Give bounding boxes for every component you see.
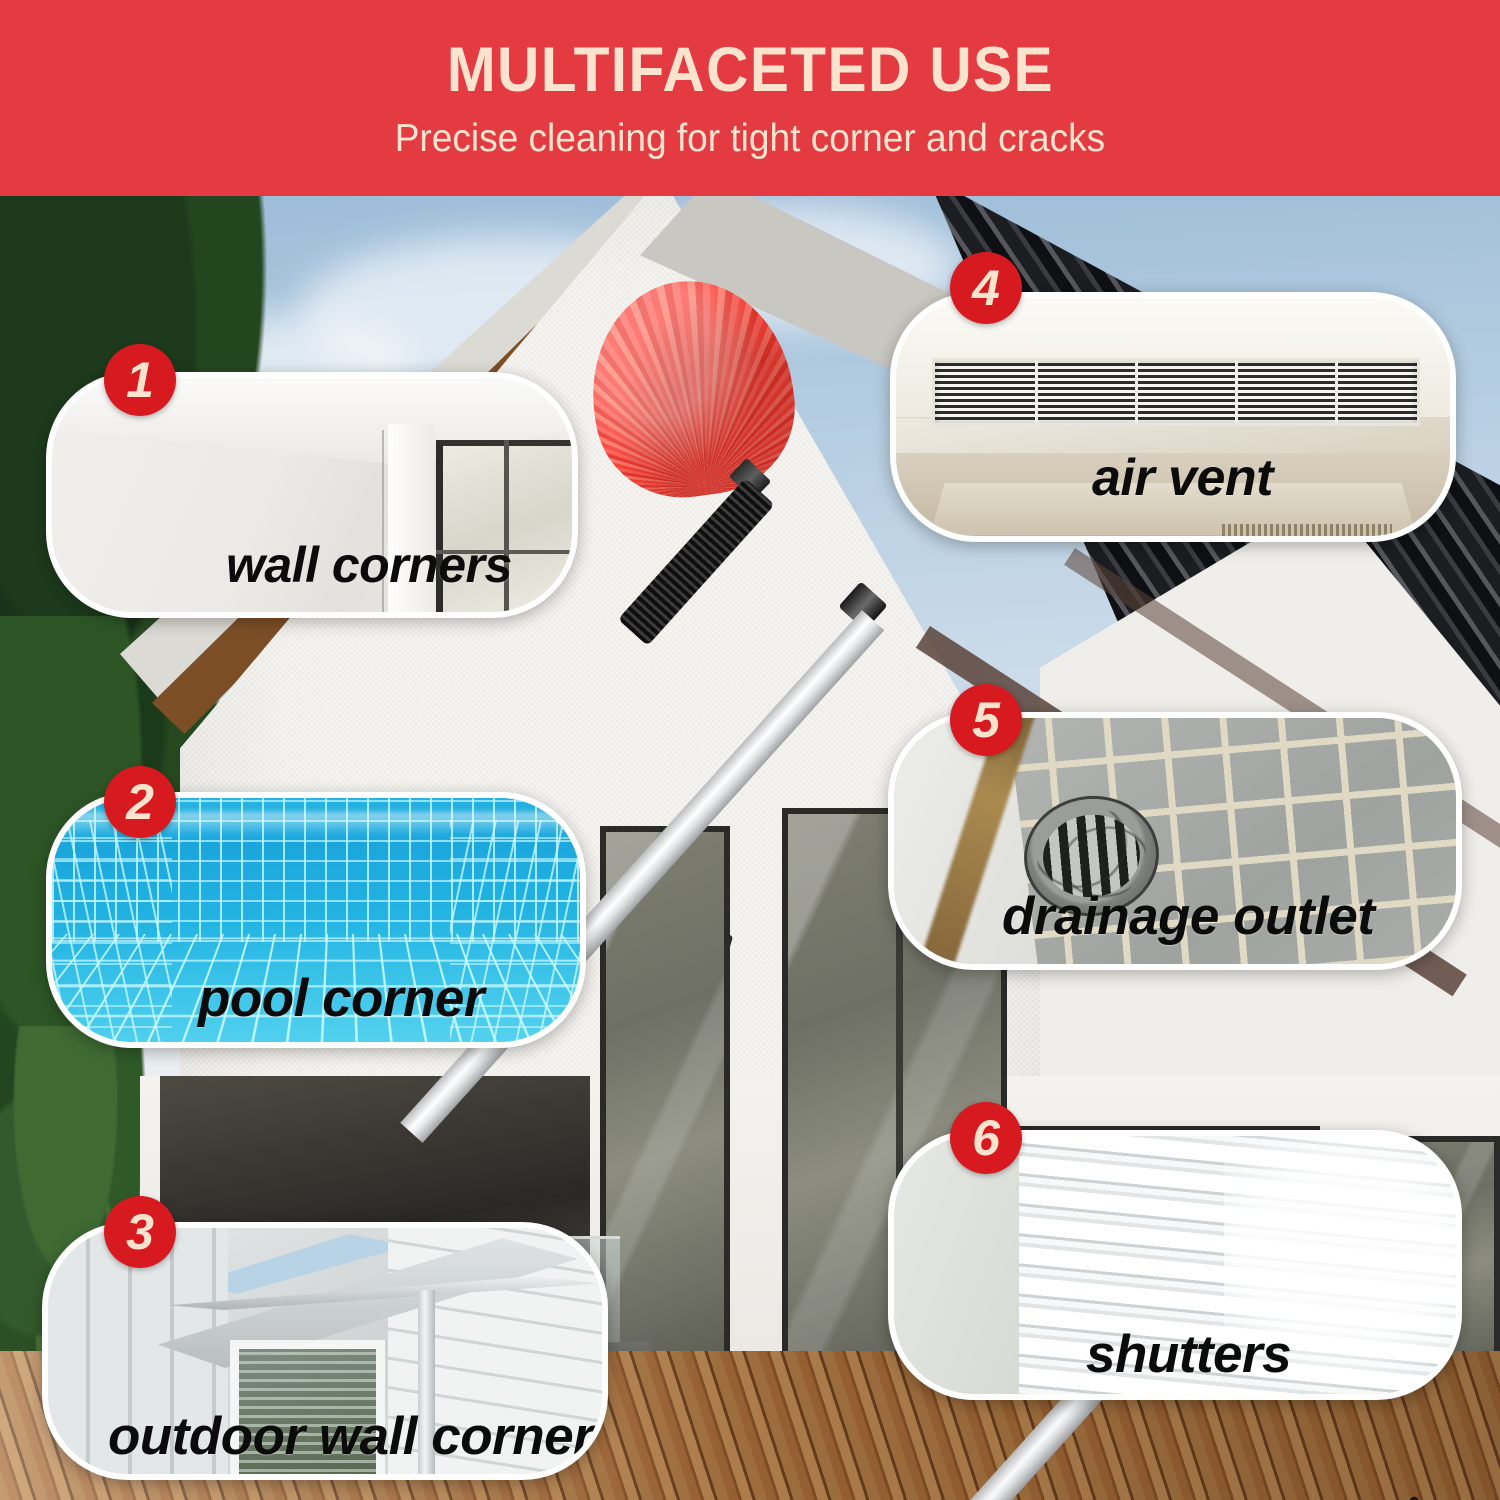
callout-label-6: shutters [1086, 1324, 1291, 1385]
callout-label-5: drainage outlet [1002, 886, 1374, 947]
wall-panel [894, 1136, 1024, 1394]
vent-louver-grille [932, 358, 1420, 426]
page-title: MULTIFACETED USE [446, 39, 1053, 102]
callout-label-2: pool corner [198, 968, 484, 1029]
callout-label-4: air vent [1092, 448, 1273, 508]
callout-badge-2: 2 [104, 766, 176, 838]
callout-badge-3: 3 [104, 1196, 176, 1268]
page-subtitle: Precise cleaning for tight corner and cr… [395, 119, 1105, 158]
callout-label-1: wall corners [226, 536, 512, 594]
callout-badge-5: 5 [950, 684, 1022, 756]
callout-badge-6: 6 [950, 1102, 1022, 1174]
callout-badge-1: 1 [104, 344, 176, 416]
ac-small-grille [1222, 524, 1392, 536]
header-banner: MULTIFACETED USE Precise cleaning for ti… [0, 0, 1500, 196]
callout-badge-4: 4 [950, 252, 1022, 324]
callout-label-3: outdoor wall corners [108, 1406, 608, 1467]
callout-card-air-vent[interactable]: air vent [890, 292, 1456, 542]
